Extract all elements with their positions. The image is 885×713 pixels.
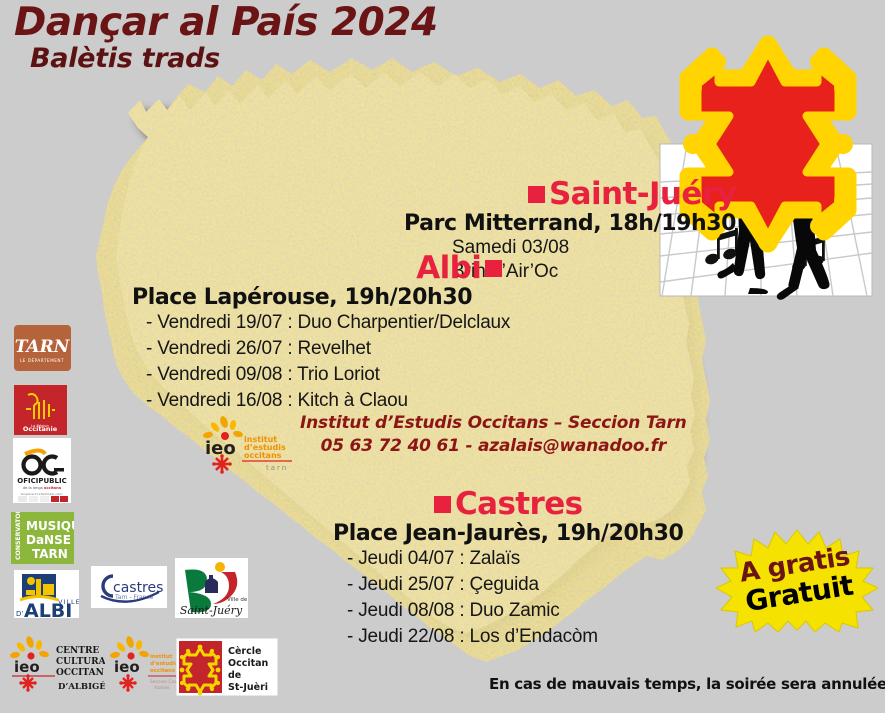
sponsor-logo-ieo-castres[interactable]: ieo institut d’estudis occitans Seccion …: [110, 636, 182, 694]
saint-juery-wordmark: Saint-Juéry: [180, 604, 243, 617]
poster-subtitle: Balètis trads: [30, 44, 438, 74]
cercle-line-2: Occitan: [228, 658, 269, 669]
occitan-cross-small: [121, 676, 135, 690]
bullet-square-icon: [434, 496, 451, 513]
sponsor-logo-tarn[interactable]: TARN LE DÉPARTEMENT: [14, 325, 71, 371]
svg-text:LE DÉPARTEMENT: LE DÉPARTEMENT: [20, 358, 64, 363]
city-header-castres: Castres: [333, 488, 683, 521]
svg-text:TARN: TARN: [32, 547, 68, 561]
contact-block: Institut d’Estudis Occitans – Seccion Ta…: [300, 412, 687, 458]
event-list-albi: - Vendredi 19/07 : Duo Charpentier/Delcl…: [146, 310, 510, 414]
svg-text:MUSIQUE: MUSIQUE: [26, 519, 74, 533]
svg-text:Azalais: Azalais: [154, 685, 170, 691]
event-item: - Jeudi 08/08 : Duo Zamic: [347, 598, 683, 624]
venue-albi: Place Lapérouse, 19h/20h30: [132, 285, 510, 310]
bullet-square-icon: [485, 260, 502, 277]
sponsor-logo-centre-cultural-occitan[interactable]: ieo CENTRE CULTURAL OCCITAN D’ALBIGÉS: [10, 636, 105, 696]
poster-canvas: Dançar al País 2024 Balètis trads Saint-…: [0, 0, 885, 713]
sun-burst-icon: [110, 636, 150, 660]
svg-text:ieo: ieo: [114, 658, 140, 676]
venue-saint-juery: Parc Mitterrand, 18h/19h30: [404, 211, 736, 236]
svg-text:d’estudis: d’estudis: [150, 661, 178, 667]
city-block-albi: Albi Place Lapérouse, 19h/20h30 - Vendre…: [132, 252, 510, 414]
cercle-line-4: St-Juèri: [228, 682, 268, 693]
svg-text:Occitanie: Occitanie: [23, 425, 58, 433]
svg-text:tarn: tarn: [266, 464, 288, 472]
event-item: - Vendredi 19/07 : Duo Charpentier/Delcl…: [146, 310, 510, 336]
conservatoire-vertical-label: CONSERVATOIRE: [15, 512, 22, 560]
svg-text:DaNSE: DaNSE: [26, 533, 71, 547]
svg-text:ieo: ieo: [14, 658, 40, 676]
free-entry-badge: A gratis Gratuit: [716, 528, 878, 632]
ieo-tarn-logo: ieo institut d’estudis occitans tarn: [200, 416, 296, 474]
city-name-albi: Albi: [416, 252, 481, 285]
event-list-castres: - Jeudi 04/07 : Zalaïs - Jeudi 25/07 : Ç…: [347, 546, 683, 650]
svg-text:D’ALBIGÉS: D’ALBIGÉS: [58, 680, 105, 692]
svg-text:de la lenga occitana: de la lenga occitana: [23, 486, 62, 490]
sun-burst-icon: [202, 416, 243, 440]
partner-flags: [18, 496, 68, 502]
ofici-wordmark: OFICIPUBLIC: [17, 477, 66, 485]
sun-burst-icon: [10, 636, 50, 660]
event-item: - Vendredi 09/08 : Trio Loriot: [146, 362, 510, 388]
sun-icon: [27, 577, 35, 585]
organiser-name: Institut d’Estudis Occitans – Seccion Ta…: [300, 412, 687, 435]
svg-text:CENTRE: CENTRE: [56, 646, 99, 656]
sponsor-logo-castres[interactable]: castres Tarn - France: [91, 566, 167, 608]
cercle-line-1: Cèrcle: [228, 646, 261, 657]
sponsor-logo-ville-saint-juery[interactable]: Ville de Saint-Juéry: [175, 558, 248, 618]
poster-title: Dançar al País 2024: [14, 2, 438, 44]
sponsor-logo-ofici-public[interactable]: OFICIPUBLIC de la lenga occitana Groupem…: [13, 438, 71, 503]
tarn-wordmark: TARN: [15, 337, 71, 357]
city-name-saint-juery: Saint-Juéry: [549, 178, 736, 211]
contact-phone-email[interactable]: 05 63 72 40 61 - azalais@wanadoo.fr: [300, 435, 687, 458]
occitan-cross-small: [21, 676, 35, 690]
svg-text:OCCITAN: OCCITAN: [56, 668, 104, 678]
occitan-cross-small: [214, 456, 230, 472]
event-item: - Vendredi 26/07 : Revelhet: [146, 336, 510, 362]
svg-text:Ville de: Ville de: [227, 597, 248, 603]
city-header-saint-juery: Saint-Juéry: [404, 178, 736, 211]
city-name-castres: Castres: [455, 488, 583, 521]
sponsor-logo-conservatoire[interactable]: CONSERVATOIRE MUSIQUE DaNSE TARN: [11, 512, 74, 564]
event-item: - Jeudi 25/07 : Çeguida: [347, 572, 683, 598]
bullet-square-icon: [528, 186, 545, 203]
poster-title-block: Dançar al País 2024 Balètis trads: [14, 2, 438, 74]
city-block-castres: Castres Place Jean-Jaurès, 19h/20h30 - J…: [333, 488, 683, 650]
sponsor-logo-cercle-occitan[interactable]: Cèrcle Occitan de St-Juèri: [176, 638, 278, 696]
svg-text:CULTURAL: CULTURAL: [56, 657, 105, 667]
venue-castres: Place Jean-Jaurès, 19h/20h30: [333, 521, 683, 546]
svg-text:occitans: occitans: [244, 451, 282, 460]
event-item: - Jeudi 22/08 : Los d’Endacòm: [347, 624, 683, 650]
city-header-albi: Albi: [132, 252, 510, 285]
svg-text:institut: institut: [150, 654, 173, 660]
sponsor-logo-ville-albi[interactable]: VILLE D’ ALBI: [14, 570, 79, 618]
sponsor-logo-occitanie[interactable]: La Région Occitanie: [14, 385, 67, 435]
sun-icon: [215, 562, 225, 572]
event-item: - Jeudi 04/07 : Zalaïs: [347, 546, 683, 572]
weather-disclaimer: En cas de mauvais temps, la soirée sera …: [489, 675, 885, 693]
cercle-line-3: de: [228, 670, 241, 681]
svg-text:D’: D’: [16, 610, 24, 618]
albi-wordmark: ALBI: [24, 600, 72, 618]
svg-text:occitans: occitans: [150, 668, 175, 674]
event-item: - Vendredi 16/08 : Kitch à Claou: [146, 388, 510, 414]
svg-text:Groupement d’Intérêt Public en: Groupement d’Intérêt Public entre :: [21, 493, 64, 496]
